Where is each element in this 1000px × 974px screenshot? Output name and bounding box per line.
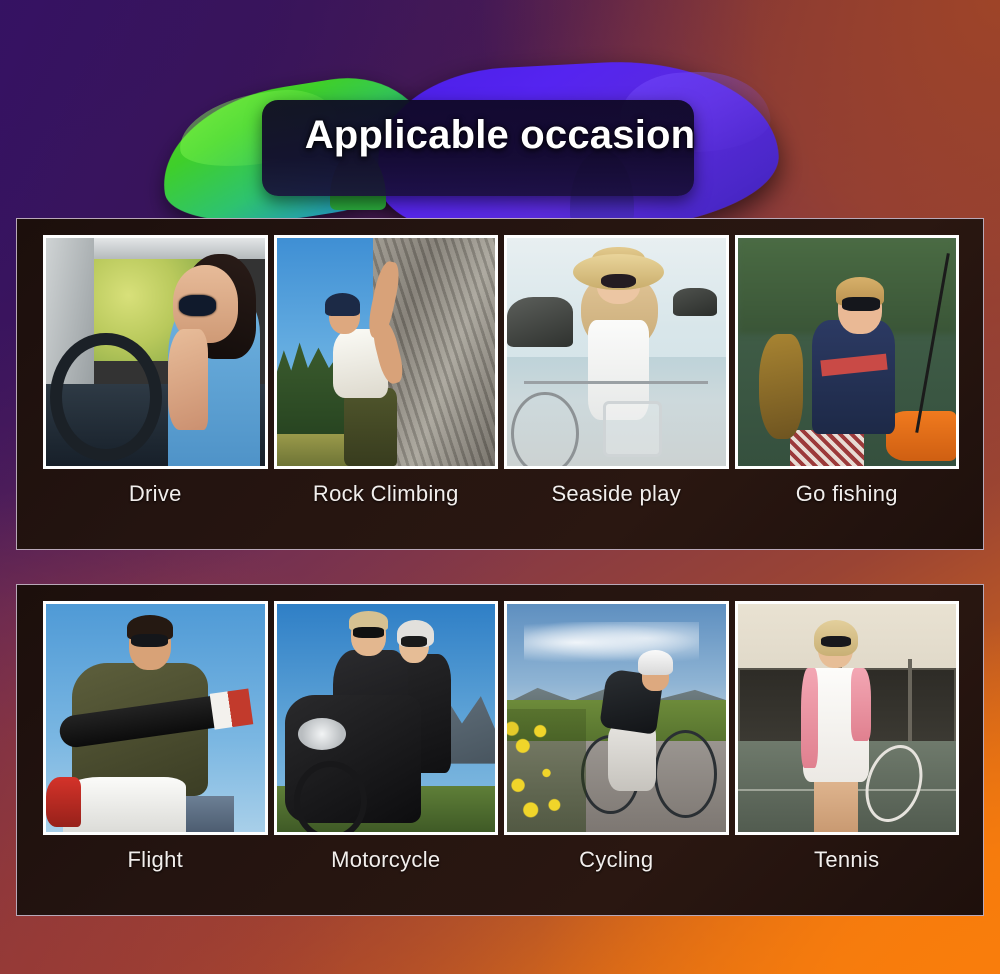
photo-tennis[interactable] (735, 601, 960, 835)
occasions-row-2-thumbnails (43, 601, 959, 835)
photo-drive[interactable] (43, 235, 268, 469)
occasion-label-cycling: Cycling (504, 847, 729, 873)
occasion-label-flight: Flight (43, 847, 268, 873)
occasion-label-drive: Drive (43, 481, 268, 507)
occasion-label-go-fishing: Go fishing (735, 481, 960, 507)
photo-seaside-play[interactable] (504, 235, 729, 469)
occasions-row-1-panel: Drive Rock Climbing Seaside play Go fish… (16, 218, 984, 550)
occasion-label-seaside-play: Seaside play (504, 481, 729, 507)
occasion-label-motorcycle: Motorcycle (274, 847, 499, 873)
photo-go-fishing[interactable] (735, 235, 960, 469)
photo-motorcycle[interactable] (274, 601, 499, 835)
page-title: Applicable occasion (0, 113, 1000, 158)
occasions-row-1-thumbnails (43, 235, 959, 469)
occasion-label-tennis: Tennis (735, 847, 960, 873)
applicable-occasion-banner: Applicable occasion (0, 0, 1000, 974)
header-area: Applicable occasion (0, 0, 1000, 230)
occasions-row-2-panel: Flight Motorcycle Cycling Tennis (16, 584, 984, 916)
photo-rock-climbing[interactable] (274, 235, 499, 469)
photo-cycling[interactable] (504, 601, 729, 835)
occasion-label-rock-climbing: Rock Climbing (274, 481, 499, 507)
occasions-row-2-labels: Flight Motorcycle Cycling Tennis (43, 847, 959, 873)
photo-flight[interactable] (43, 601, 268, 835)
occasions-row-1-labels: Drive Rock Climbing Seaside play Go fish… (43, 481, 959, 507)
